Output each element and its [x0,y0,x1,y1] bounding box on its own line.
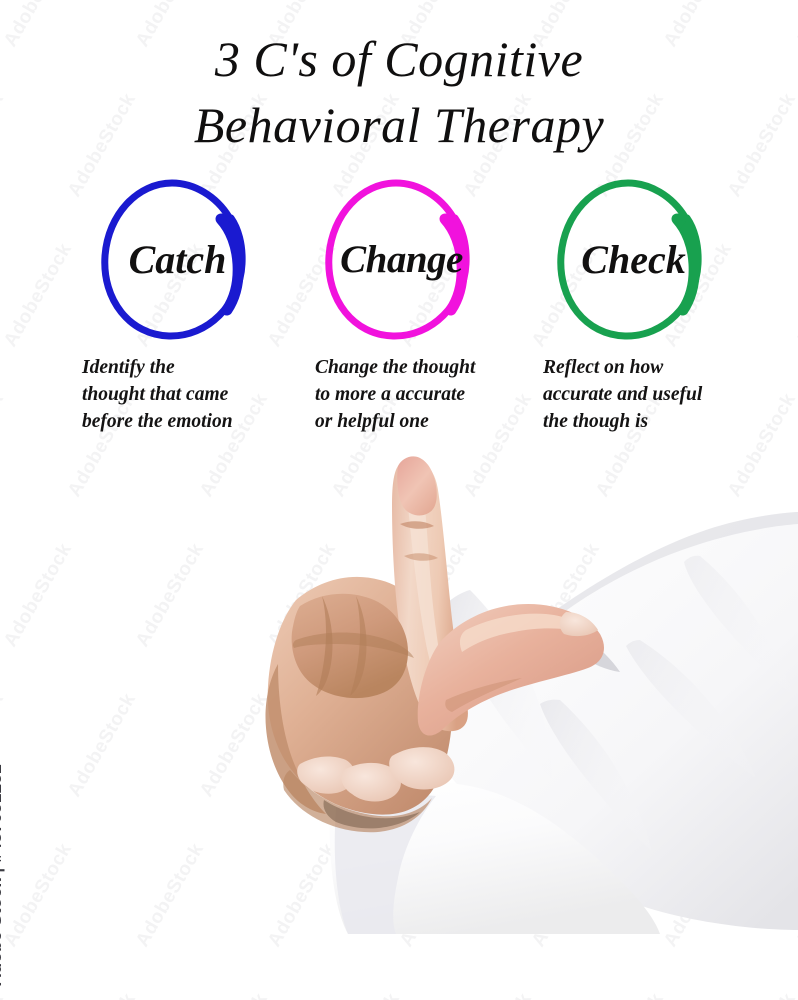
caption-line: Reflect on how [543,354,752,381]
caption-check: Reflect on how accurate and useful the t… [516,354,752,435]
caption-line: Identify the [82,354,298,381]
caption-line: thought that came [82,381,298,408]
caption-line: the though is [543,408,752,435]
caption-line: before the emotion [82,408,298,435]
circle-change: Change [314,178,489,340]
caption-line: Change the thought [315,354,526,381]
fingertip [397,456,437,515]
page-title: 3 C's of Cognitive Behavioral Therapy [0,26,798,158]
caption-line: accurate and useful [543,381,752,408]
column-check: Check Reflect on how accurate and useful… [516,178,752,435]
stock-id-watermark: Adobe Stock | #487651252 [0,764,6,986]
column-change: Change Change the thought to more a accu… [290,178,526,435]
label-check: Check [546,178,721,340]
title-line-1: 3 C's of Cognitive [0,26,798,92]
label-catch: Catch [90,178,265,340]
title-line-2: Behavioral Therapy [0,92,798,158]
caption-catch: Identify the thought that came before th… [62,354,298,435]
caption-line: to more a accurate [315,381,526,408]
circle-check: Check [546,178,721,340]
illustration-canvas: AdobeStockAdobeStockAdobeStockAdobeStock… [0,0,798,1000]
circle-catch: Catch [90,178,265,340]
caption-change: Change the thought to more a accurate or… [290,354,526,435]
label-change: Change [314,178,489,340]
column-catch: Catch Identify the thought that came bef… [62,178,298,435]
three-cs-row: Catch Identify the thought that came bef… [0,178,798,458]
caption-line: or helpful one [315,408,526,435]
